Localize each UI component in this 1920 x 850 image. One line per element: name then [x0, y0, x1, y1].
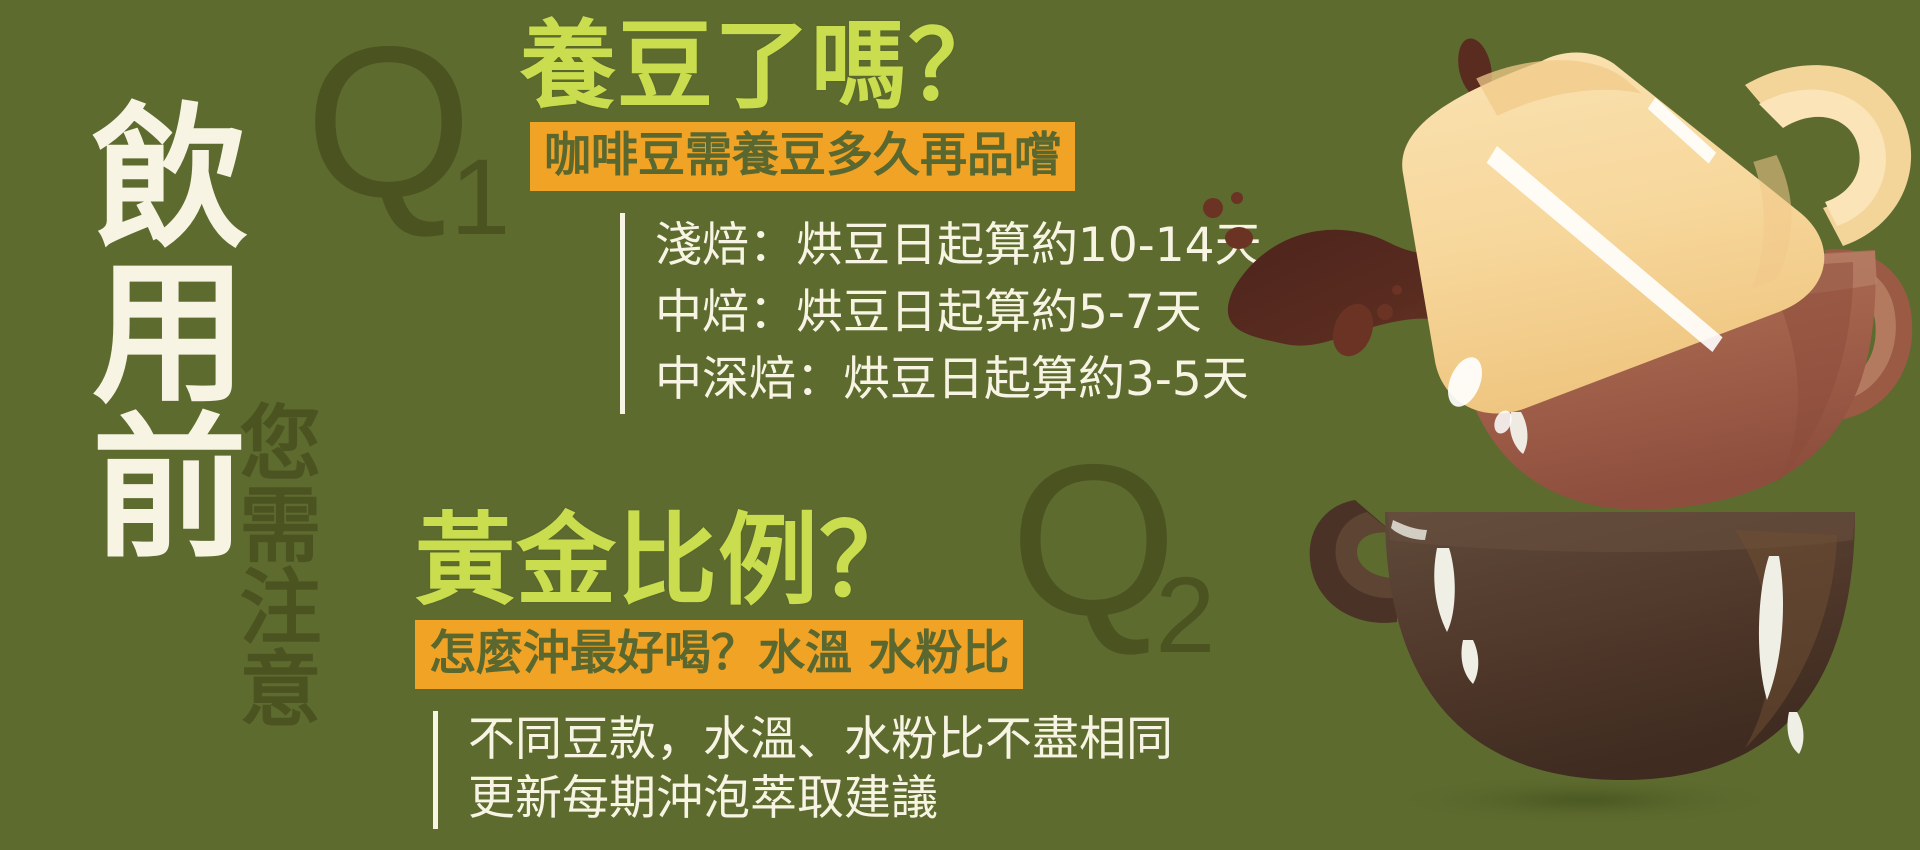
q2-bullet-list: 不同豆款，水溫、水粉比不盡相同 更新每期沖泡萃取建議	[433, 711, 1173, 829]
q1-letter: Q	[305, 1, 472, 242]
q1-heading: 養豆了嗎？	[520, 18, 1262, 116]
q1-bullet-list: 淺焙：烘豆日起算約10-14天 中焙：烘豆日起算約5-7天 中深焙：烘豆日起算約…	[620, 213, 1262, 413]
question-block-1: 養豆了嗎？ 咖啡豆需養豆多久再品嚐 淺焙：烘豆日起算約10-14天 中焙：烘豆日…	[520, 18, 1262, 414]
q2-subtitle-bar: 怎麼沖最好喝？水溫 水粉比	[415, 620, 1023, 689]
q1-badge: Q1	[305, 14, 532, 229]
list-item: 中焙：烘豆日起算約5-7天	[655, 280, 1262, 347]
page-subtitle: 您需注意	[228, 400, 315, 800]
bottom-dark-brown-cup	[1310, 500, 1855, 780]
question-block-2: 黃金比例？ 怎麼沖最好喝？水溫 水粉比 不同豆款，水溫、水粉比不盡相同 更新每期…	[415, 510, 1173, 829]
coffee-info-banner: 飲用前 您需注意 Q1 養豆了嗎？ 咖啡豆需養豆多久再品嚐 淺焙：烘豆日起算約1…	[0, 0, 1920, 850]
list-item: 不同豆款，水溫、水粉比不盡相同	[468, 711, 1173, 770]
list-item: 更新每期沖泡萃取建議	[468, 770, 1173, 829]
q2-heading: 黃金比例？	[415, 510, 1173, 612]
cup-shadow	[1385, 774, 1785, 826]
page-title: 飲用前	[34, 8, 234, 648]
stacked-coffee-cups-illustration	[1175, 0, 1920, 850]
list-item: 中深焙：烘豆日起算約3-5天	[655, 347, 1262, 414]
q1-subtitle-bar: 咖啡豆需養豆多久再品嚐	[530, 122, 1075, 191]
list-item: 淺焙：烘豆日起算約10-14天	[655, 213, 1262, 280]
q1-number: 1	[450, 136, 510, 257]
